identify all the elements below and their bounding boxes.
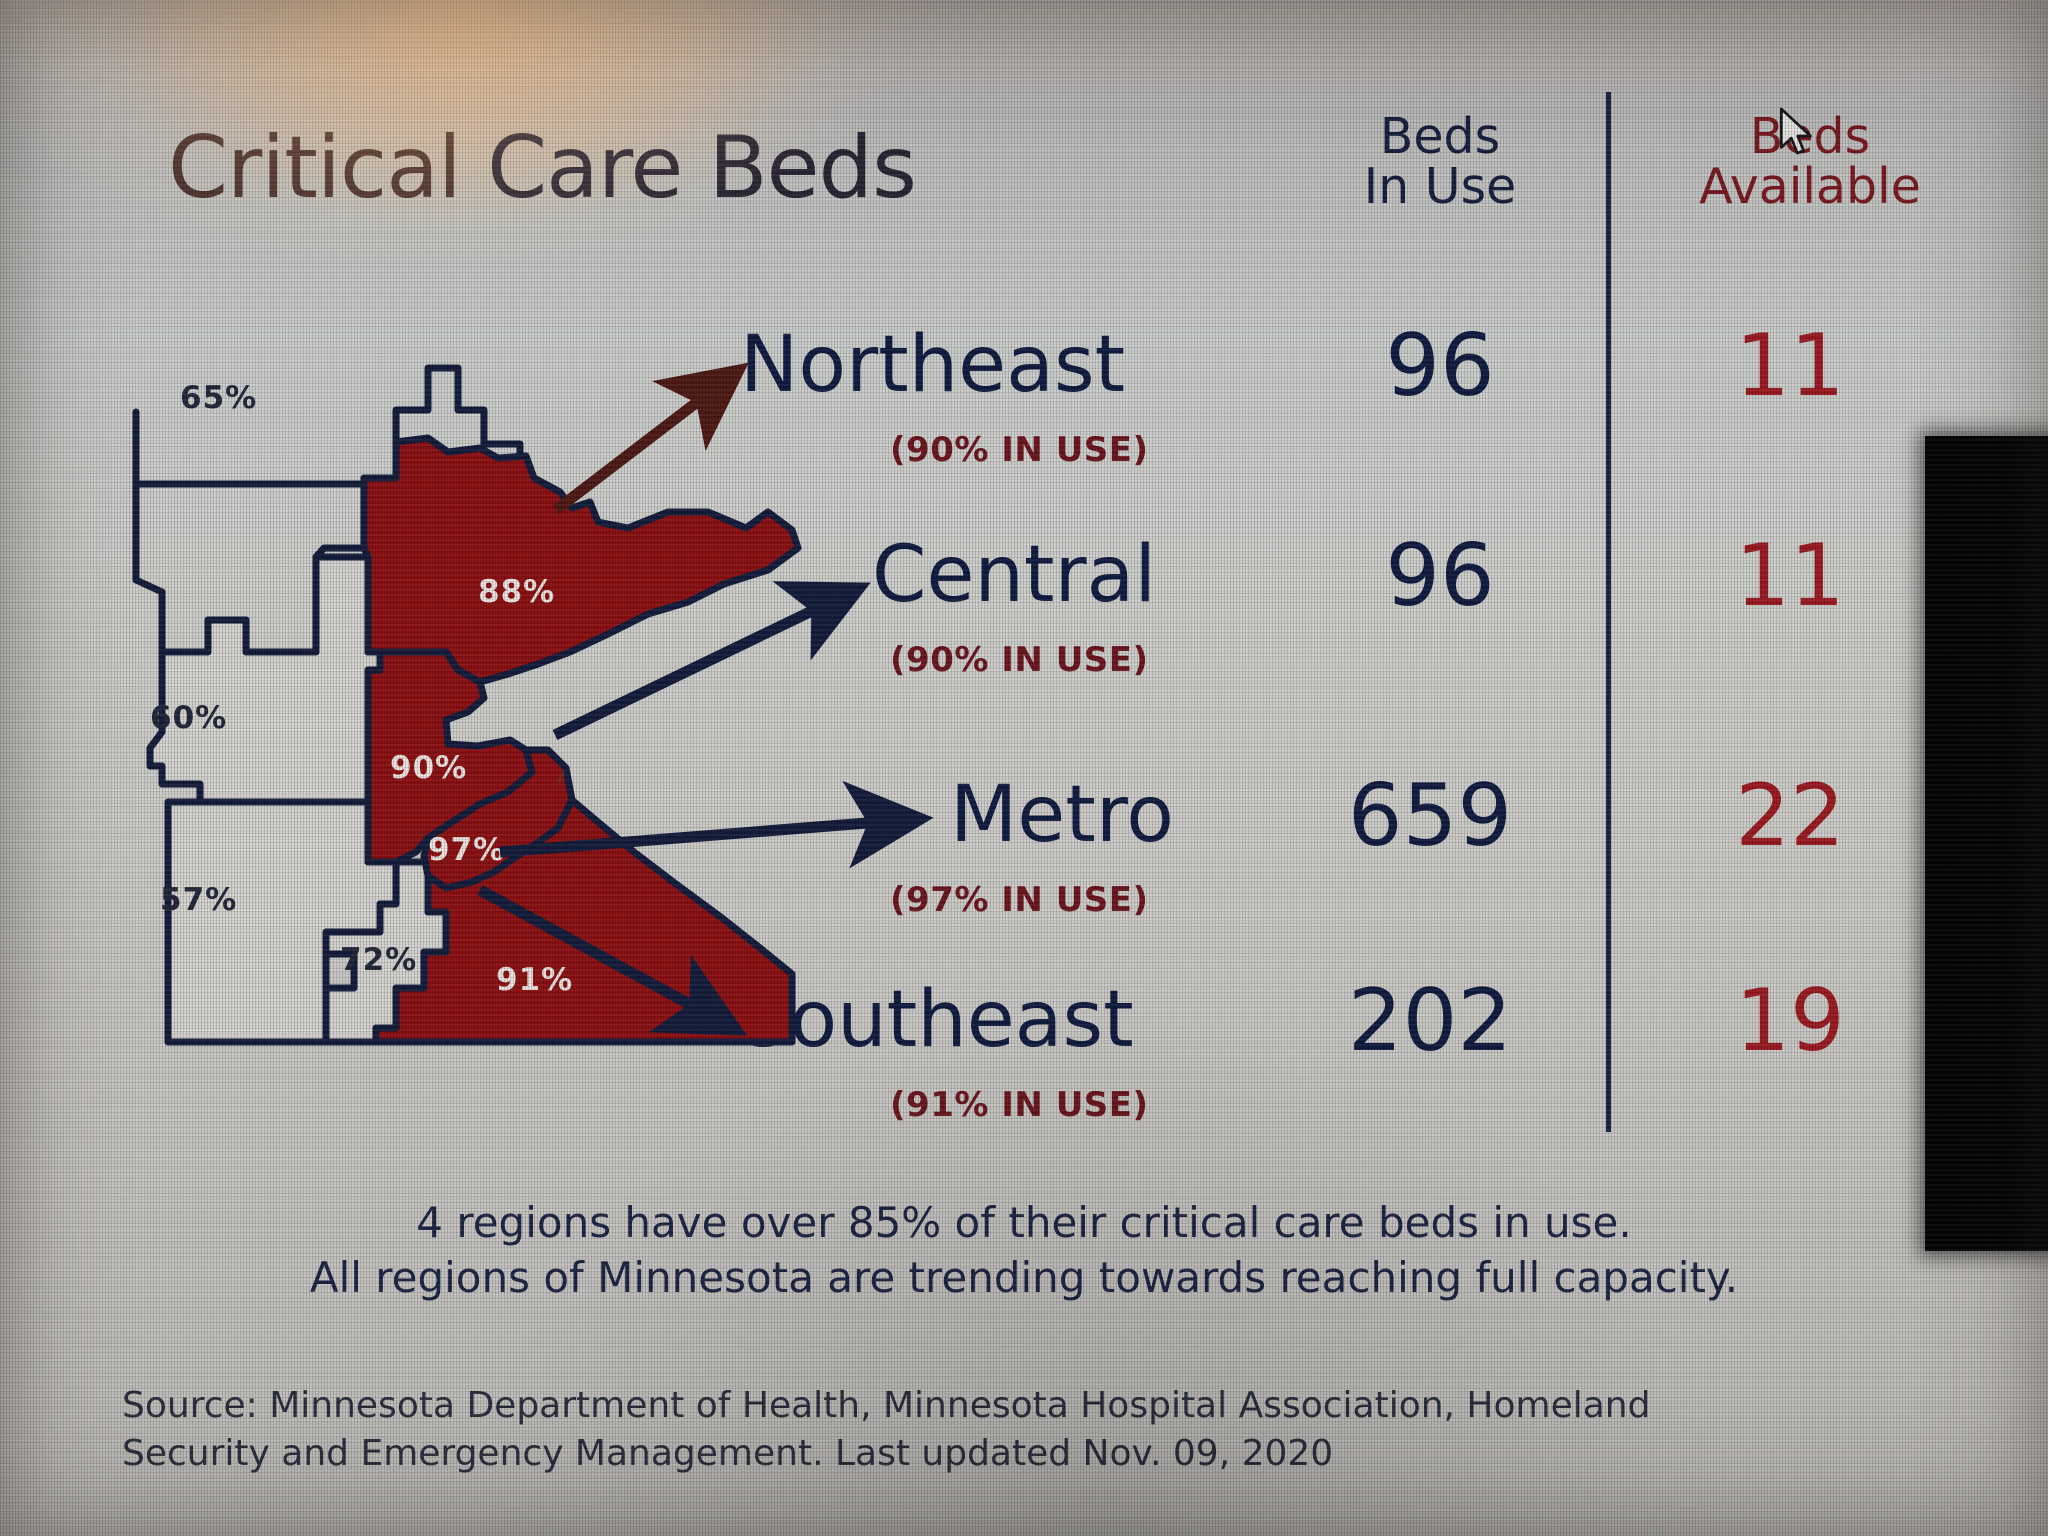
page-title-part2: Care Beds: [461, 118, 916, 218]
minnesota-region-map: 65% 88% 60% 90% 97% 57% 72% 91%: [128, 352, 828, 1062]
source-text: Source: Minnesota Department of Health, …: [122, 1382, 1922, 1478]
map-label-metro: 97%: [428, 832, 505, 868]
column-divider: [1606, 92, 1611, 1132]
map-label-south-central: 72%: [340, 942, 417, 978]
map-label-southwest: 57%: [160, 882, 237, 918]
summary-line-2: All regions of Minnesota are trending to…: [0, 1251, 2048, 1306]
region-pct-metro: (97% IN USE): [890, 880, 1149, 920]
map-label-northeast: 88%: [478, 574, 555, 610]
summary-text: 4 regions have over 85% of their critica…: [0, 1196, 2048, 1305]
beds-available-northeast: 11: [1640, 316, 1940, 416]
map-region-northeast: [364, 438, 798, 682]
slide-surface: Critical Care Beds Beds In Use Beds Avai…: [0, 0, 2048, 1536]
beds-in-use-central: 96: [1290, 526, 1590, 626]
region-pct-central: (90% IN USE): [890, 640, 1149, 680]
map-label-central: 90%: [390, 750, 467, 786]
summary-line-1: 4 regions have over 85% of their critica…: [0, 1196, 2048, 1251]
column-header-beds-in-use: Beds In Use: [1290, 112, 1590, 212]
column-header-beds-in-use-line2: In Use: [1290, 162, 1590, 212]
page-title-part1: Critical: [168, 118, 461, 218]
source-line-2: Security and Emergency Management. Last …: [122, 1430, 1922, 1478]
beds-available-central: 11: [1640, 526, 1940, 626]
region-pct-northeast: (90% IN USE): [890, 430, 1149, 470]
region-label-metro: Metro: [950, 770, 1174, 860]
map-label-northwest: 65%: [180, 380, 257, 416]
map-region-west-central: [150, 557, 380, 802]
column-header-beds-available-line2: Available: [1640, 162, 1980, 212]
region-label-central: Central: [872, 530, 1156, 620]
region-pct-southeast: (91% IN USE): [890, 1085, 1149, 1125]
map-label-west-central: 60%: [150, 700, 227, 736]
column-header-beds-in-use-line1: Beds: [1290, 112, 1590, 162]
beds-in-use-northeast: 96: [1290, 316, 1590, 416]
source-line-1: Source: Minnesota Department of Health, …: [122, 1382, 1922, 1430]
mouse-cursor-icon: [1778, 106, 1818, 162]
map-label-southeast: 91%: [496, 962, 573, 998]
minnesota-map-svg: [128, 352, 828, 1062]
black-overlay-panel: [1925, 436, 2048, 1251]
page-title: Critical Care Beds: [168, 118, 916, 218]
photographed-screen: Critical Care Beds Beds In Use Beds Avai…: [0, 0, 2048, 1536]
beds-in-use-southeast: 202: [1280, 971, 1580, 1071]
beds-available-metro: 22: [1640, 766, 1940, 866]
beds-in-use-metro: 659: [1280, 766, 1580, 866]
beds-available-southeast: 19: [1640, 971, 1940, 1071]
